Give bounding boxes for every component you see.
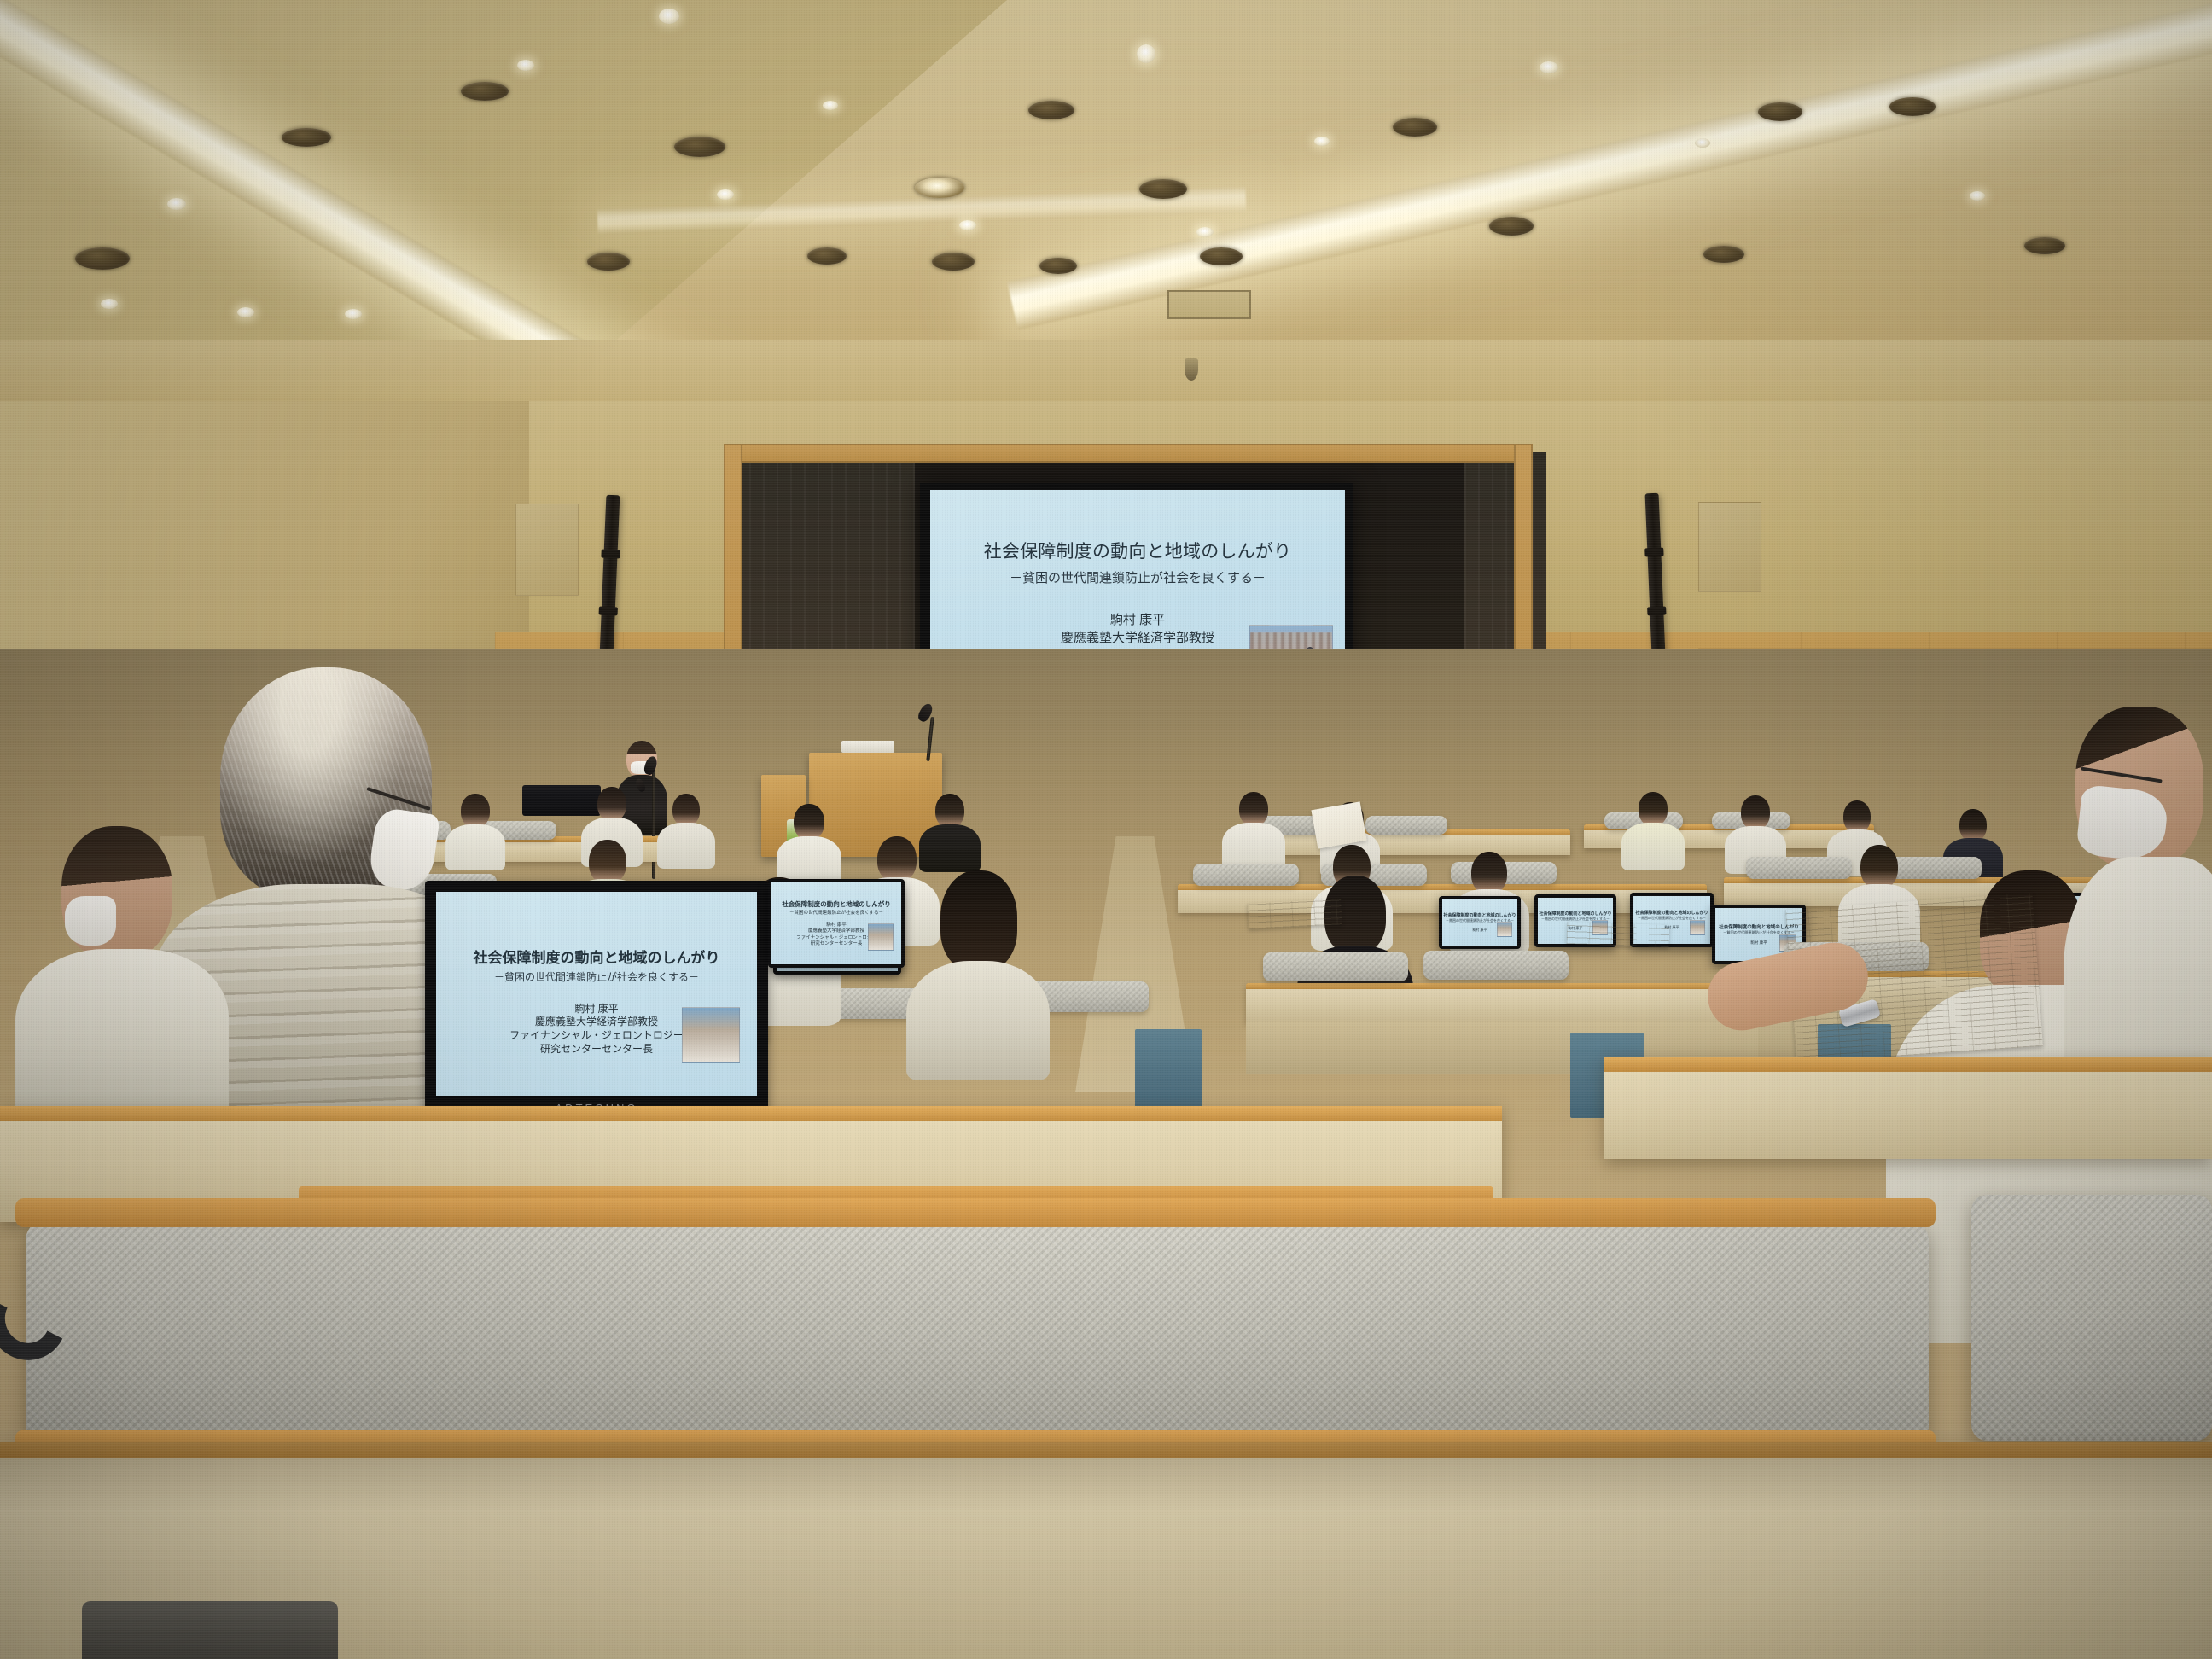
wall-acoustic-panel-left [515,504,579,596]
ceiling-spotlight [1695,138,1710,148]
ceiling-spotlight [517,60,534,71]
seat[interactable] [1746,857,1852,879]
attendee-monitor-second[interactable]: 社会保障制度の動向と地域のしんがり －貧困の世代間連鎖防止が社会を良くする－ 駒… [768,879,905,968]
foreground-desk-bottom-shadow [0,1442,2212,1511]
ceiling-spotlight [101,299,118,309]
ceiling-projector-mount [1185,358,1198,381]
foreground-chair-back[interactable] [26,1219,1929,1449]
downlight [1758,102,1802,121]
lectern-laptop [841,741,894,753]
ceiling [0,0,2212,444]
downlight [282,128,331,147]
lecture-hall-photo: 社会保障制度の動向と地域のしんがり －貧困の世代間連鎖防止が社会を良くする－ 駒… [0,0,2212,1659]
downlight [1889,97,1935,116]
monitor-slide-presenter: 駒村 康平 [1472,928,1487,932]
handout-paper[interactable] [1247,899,1342,929]
cove-light-right [1007,0,2212,330]
seat[interactable] [1263,952,1408,981]
audience-member [794,804,859,886]
monitor-slide-presenter: 駒村 康平 [1750,940,1767,946]
ceiling-spotlight [167,198,186,210]
downlight [587,253,630,271]
ceiling-spotlight [1540,61,1558,73]
downlight [1139,179,1187,199]
downlight [1200,247,1243,265]
downlight [2024,237,2065,254]
upper-wall-left [0,401,529,691]
monitor-slide-title: 社会保障制度の動向と地域のしんがり [782,899,891,909]
monitor-penguin-image [1497,922,1512,937]
monitor-penguin-image [1690,920,1705,935]
monitor-penguin-image [868,923,894,951]
foreground-desk-right [1604,1057,2212,1159]
downlight [915,178,964,198]
ceiling-spotlight [1137,44,1155,63]
seat[interactable] [1193,864,1299,886]
downlight [1393,118,1437,137]
downlight [1489,217,1534,236]
foreground-chair-right[interactable] [1971,1195,2212,1441]
downlight [932,253,975,271]
downlight [674,137,725,157]
ceiling-spotlight [959,220,976,230]
downlight [1703,246,1744,263]
seat[interactable] [1423,951,1569,980]
monitor-slide-subtitle: －貧困の世代間連鎖防止が社会を良くする－ [789,909,883,916]
audience-member [1239,792,1302,870]
foreground-attendee-monitor[interactable]: 社会保障制度の動向と地域のしんがり －貧困の世代間連鎖防止が社会を良くする－ 駒… [425,881,768,1118]
downlight [461,82,509,101]
monitor-slide-body: 駒村 康平 慶應義塾大学経済学部教授 ファイナンシャル・ジェロントロジー 研究セ… [796,923,876,947]
ceiling-spotlight [345,309,362,319]
slide-subtitle: －貧困の世代間連鎖防止が社会を良くする－ [1010,568,1266,586]
stage-proscenium-top [724,444,1533,463]
downlight [1028,101,1074,119]
audience-member [1639,792,1702,870]
slide-presenter-name: 駒村 康平 [1110,612,1165,630]
audience-member [672,794,731,869]
audience-member-far-left [61,826,275,1120]
wall-acoustic-panel-right [1698,502,1761,592]
monitor-slide-subtitle: －貧困の世代間連鎖防止が社会を良くする－ [494,969,699,984]
foreground-chair-top-rail [15,1198,1935,1227]
downlight [807,247,847,265]
ceiling-spotlight [237,307,254,317]
handout-paper[interactable] [1567,922,1670,947]
foreground-monitor-slide: 社会保障制度の動向と地域のしんがり －貧困の世代間連鎖防止が社会を良くする－ 駒… [436,892,757,1096]
attendee-monitor[interactable]: 社会保障制度の動向と地域のしんがり －貧困の世代間連鎖防止が社会を良くする－ 駒… [1439,896,1521,949]
ceiling-spotlight [717,189,734,200]
ceiling-spotlight [823,101,838,110]
ceiling-spotlight [1196,227,1214,237]
ceiling-access-hatch [1167,290,1251,319]
monitor-penguin-image [682,1007,740,1063]
ceiling-spotlight [1970,191,1985,201]
slide-title: 社会保障制度の動向と地域のしんがり [984,538,1292,563]
downlight [1039,258,1077,274]
foreground-item-dark [82,1601,338,1659]
face-mask [65,896,116,946]
audience-member-woman-bob [940,870,1084,1080]
ceiling-spotlight [659,9,679,24]
downlight [75,247,130,270]
desk-equipment-panel [1135,1029,1202,1111]
slide-affiliation-1: 慶應義塾大学経済学部教授 [1061,630,1214,648]
monitor-slide-body: 駒村 康平 慶應義塾大学経済学部教授 ファイナンシャル・ジェロントロジー 研究セ… [509,1003,684,1056]
ceiling-spotlight [1314,137,1330,146]
monitor-slide-title: 社会保障制度の動向と地域のしんがり [474,946,720,967]
